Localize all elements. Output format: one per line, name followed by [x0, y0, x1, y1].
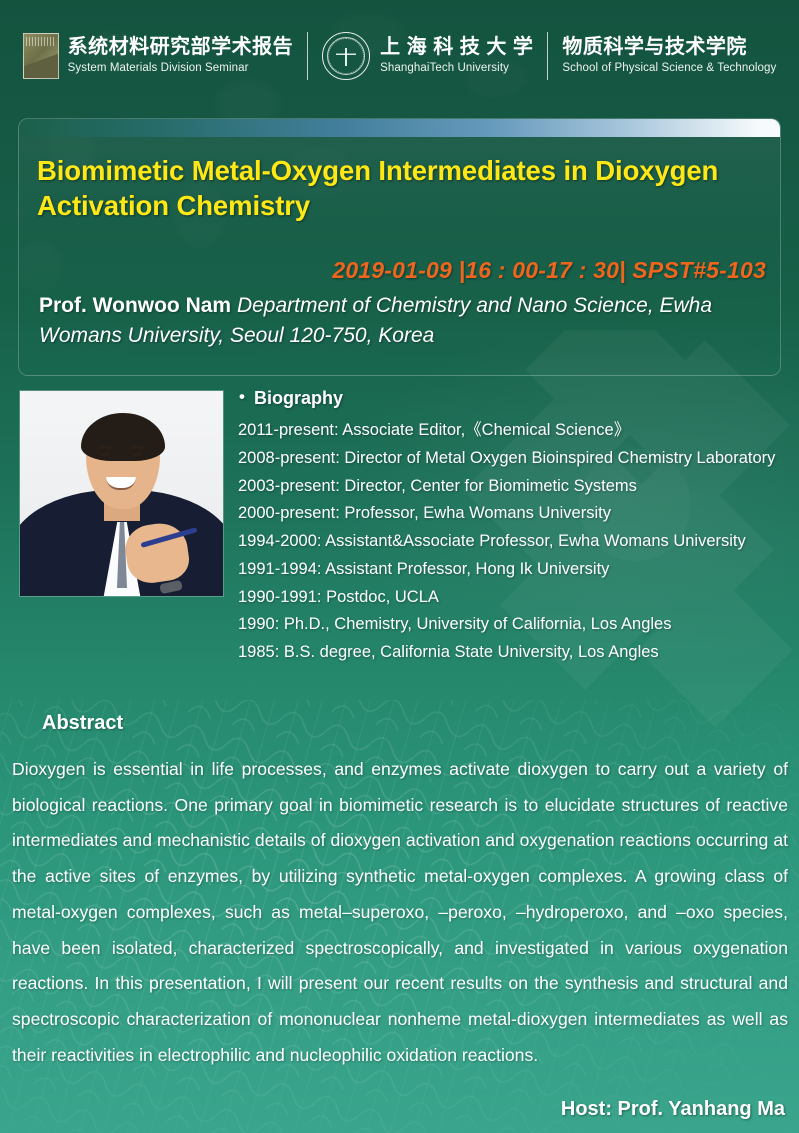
title-panel: Biomimetic Metal-Oxygen Intermediates in…	[18, 118, 781, 376]
portrait-eyebrow-right	[130, 446, 144, 449]
abstract-paragraph: Dioxygen is essential in life processes,…	[12, 752, 788, 1073]
abstract-heading: Abstract	[42, 712, 123, 735]
biography-heading: Biography	[254, 388, 788, 409]
portrait-eye-left	[100, 453, 110, 456]
biography-item: 2003-present: Director, Center for Biomi…	[238, 475, 788, 499]
biography-section: Biography 2011-present: Associate Editor…	[238, 388, 788, 669]
school-name-en: School of Physical Science & Technology	[562, 61, 776, 76]
header-divider-1	[307, 32, 308, 80]
host-label: Host: Prof. Yanhang Ma	[561, 1098, 785, 1121]
university-name-cn: 上 海 科 技 大 学	[380, 36, 533, 59]
poster-header: 系统材料研究部学术报告 System Materials Division Se…	[0, 0, 799, 112]
portrait-eyebrow-left	[98, 446, 112, 449]
school-name-cn: 物质科学与技术学院	[562, 36, 776, 59]
speaker-line: Prof. Wonwoo Nam Department of Chemistry…	[39, 291, 767, 351]
shanghaitech-seal-icon	[322, 32, 370, 80]
biography-item: 1991-1994: Assistant Professor, Hong Ik …	[238, 558, 788, 582]
biography-item: 1985: B.S. degree, California State Univ…	[238, 641, 788, 665]
abstract-body: Dioxygen is essential in life processes,…	[12, 752, 788, 1073]
header-divider-2	[547, 32, 548, 80]
biography-item: 2008-present: Director of Metal Oxygen B…	[238, 447, 788, 471]
gradient-accent-bar	[19, 119, 781, 137]
seminar-title: Biomimetic Metal-Oxygen Intermediates in…	[37, 153, 737, 223]
biography-item: 1990-1991: Postdoc, UCLA	[238, 586, 788, 610]
biography-item: 2011-present: Associate Editor,《Chemical…	[238, 419, 788, 443]
seal-emblem	[336, 48, 356, 66]
portrait-eye-right	[132, 453, 142, 456]
division-name-cn: 系统材料研究部学术报告	[68, 36, 294, 59]
biography-item: 1990: Ph.D., Chemistry, University of Ca…	[238, 613, 788, 637]
seminar-datetime-venue: 2019-01-09 |16 : 00-17 : 30| SPST#5-103	[332, 257, 766, 284]
speaker-name: Prof. Wonwoo Nam	[39, 294, 231, 317]
biography-item: 2000-present: Professor, Ewha Womans Uni…	[238, 502, 788, 526]
header-school-block: 物质科学与技术学院 School of Physical Science & T…	[562, 36, 776, 76]
division-name-en: System Materials Division Seminar	[68, 61, 294, 76]
division-logo-icon	[23, 33, 59, 79]
header-division-block: 系统材料研究部学术报告 System Materials Division Se…	[23, 33, 294, 79]
biography-item: 1994-2000: Assistant&Associate Professor…	[238, 530, 788, 554]
university-name-en: ShanghaiTech University	[380, 61, 533, 76]
header-university-block: 上 海 科 技 大 学 ShanghaiTech University	[322, 32, 533, 80]
seminar-poster: 系统材料研究部学术报告 System Materials Division Se…	[0, 0, 799, 1133]
speaker-portrait-photo	[20, 391, 223, 596]
